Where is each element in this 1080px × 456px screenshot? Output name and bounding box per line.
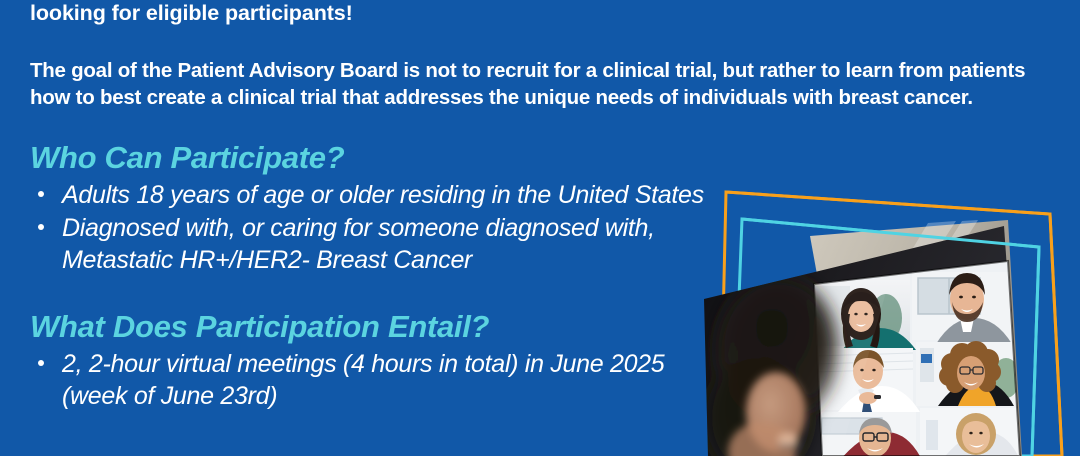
video-tile-participant-4 [916,341,1020,406]
video-conference-graphic [690,168,1080,456]
text-column: looking for eligible participants! The g… [30,0,710,413]
section-heading-who-can-participate: Who Can Participate? [30,111,710,175]
body-paragraph: The goal of the Patient Advisory Board i… [30,28,1030,112]
graphic-svg [690,168,1080,456]
bullet-dot-icon [38,224,44,230]
list-item: Diagnosed with, or caring for someone di… [30,212,710,276]
list-item: Adults 18 years of age or older residing… [30,179,710,211]
list-item-label: Adults 18 years of age or older residing… [62,181,704,209]
list-item: 2, 2-hour virtual meetings (4 hours in t… [30,348,710,412]
bullet-dot-icon [38,360,44,366]
video-tile-participant-2 [912,272,1014,344]
intro-line: looking for eligible participants! [30,0,710,28]
list-item-label: Diagnosed with, or caring for someone di… [62,214,655,274]
flyer-canvas: looking for eligible participants! The g… [0,0,1080,456]
video-tile-participant-6 [920,408,1020,456]
section-heading-what-does-participation-entail: What Does Participation Entail? [30,277,710,344]
list-item-label: 2, 2-hour virtual meetings (4 hours in t… [62,350,664,410]
bullet-list-eligibility: Adults 18 years of age or older residing… [30,175,710,276]
bullet-dot-icon [38,191,44,197]
bullet-list-participation: 2, 2-hour virtual meetings (4 hours in t… [30,344,710,412]
